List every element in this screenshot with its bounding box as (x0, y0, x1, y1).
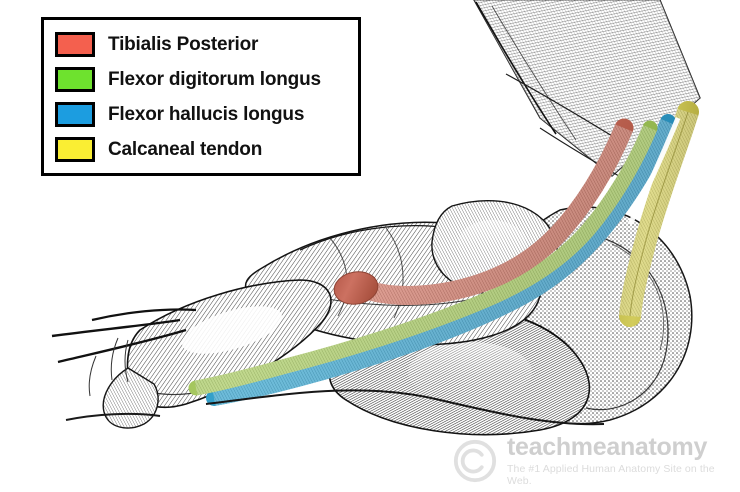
toe-filament-3 (89, 356, 96, 396)
legend-label-calcaneal-tendon: Calcaneal tendon (108, 139, 262, 161)
legend-swatch-calcaneal-tendon (55, 137, 95, 162)
watermark-tagline: The #1 Applied Human Anatomy Site on the… (507, 463, 740, 487)
calcaneus-highlight (408, 342, 532, 402)
legend-label-flexor-digitorum-longus: Flexor digitorum longus (108, 69, 321, 91)
legend-item-tibialis-posterior: Tibialis Posterior (44, 27, 358, 62)
illustration-canvas: Tibialis Posterior Flexor digitorum long… (0, 0, 740, 492)
watermark-title: teachmeanatomy (507, 435, 740, 461)
watermark-text-group: teachmeanatomy The #1 Applied Human Anat… (507, 435, 740, 487)
legend-swatch-flexor-digitorum-longus (55, 67, 95, 92)
legend-box: Tibialis Posterior Flexor digitorum long… (41, 17, 361, 176)
legend-label-flexor-hallucis-longus: Flexor hallucis longus (108, 104, 304, 126)
toe-filament-1 (111, 338, 118, 380)
legend-item-flexor-hallucis-longus: Flexor hallucis longus (44, 97, 358, 132)
watermark: teachmeanatomy The #1 Applied Human Anat… (452, 432, 740, 490)
legend-item-flexor-digitorum-longus: Flexor digitorum longus (44, 62, 358, 97)
legend-swatch-tibialis-posterior (55, 32, 95, 57)
legend-item-calcaneal-tendon: Calcaneal tendon (44, 132, 358, 167)
legend-label-tibialis-posterior: Tibialis Posterior (108, 34, 258, 56)
copyright-circle-c-logo (452, 438, 498, 484)
legend-swatch-flexor-hallucis-longus (55, 102, 95, 127)
forefoot-group (52, 280, 331, 428)
